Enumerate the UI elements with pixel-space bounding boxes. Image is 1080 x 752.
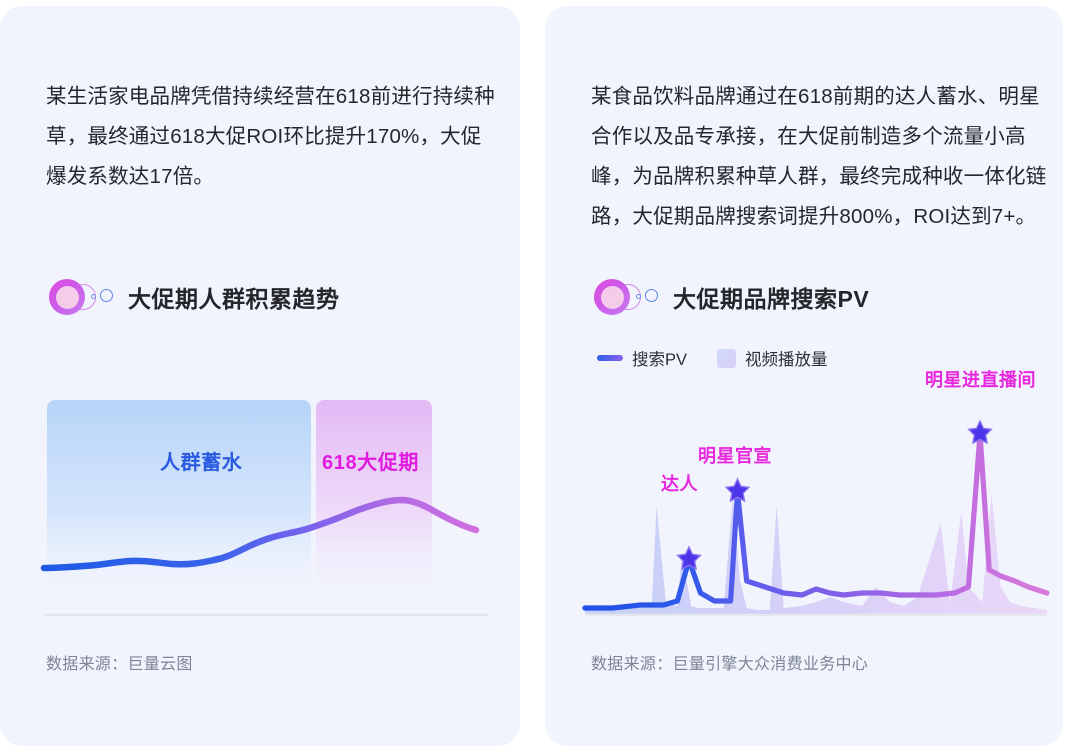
- case-paragraph-right: 某食品饮料品牌通过在618前期的达人蓄水、明星合作以及品专承接，在大促前制造多个…: [591, 77, 1053, 237]
- star-marker-star-announce: [726, 479, 749, 501]
- section-heading-right: 大促期品牌搜索PV: [593, 276, 869, 318]
- chart-crowd-accumulation-trend: 人群蓄水 618大促期: [44, 394, 488, 620]
- band-label-pre-promo: 人群蓄水: [160, 446, 242, 475]
- legend-swatch-icon: [717, 349, 736, 368]
- crowd-trend-svg: [44, 394, 488, 620]
- source-note-right: 数据来源：巨量引擎大众消费业务中心: [591, 650, 868, 674]
- section-title-right: 大促期品牌搜索PV: [673, 280, 869, 314]
- legend-line-icon: [597, 355, 623, 361]
- case-card-right: 某食品饮料品牌通过在618前期的达人蓄水、明星合作以及品专承接，在大促前制造多个…: [545, 6, 1063, 746]
- star-marker-star-livestream: [969, 421, 992, 443]
- brand-search-svg: [585, 366, 1047, 622]
- source-note-left: 数据来源：巨量云图: [46, 650, 193, 674]
- gradient-bubble-icon: [48, 276, 110, 318]
- annotation-star-announce: 明星官宣: [698, 442, 772, 468]
- band-pre-promo: [47, 400, 311, 606]
- case-paragraph-left: 某生活家电品牌凭借持续经营在618前进行持续种草，最终通过618大促ROI环比提…: [46, 77, 498, 197]
- section-title-left: 大促期人群积累趋势: [128, 280, 340, 314]
- annotation-daren: 达人: [661, 470, 698, 496]
- case-card-left: 某生活家电品牌凭借持续经营在618前进行持续种草，最终通过618大促ROI环比提…: [0, 6, 520, 746]
- chart-brand-search-pv: 达人 明星官宣 明星进直播间: [585, 366, 1047, 622]
- annotation-star-livestream: 明星进直播间: [925, 366, 1036, 392]
- page-root: 某生活家电品牌凭借持续经营在618前进行持续种草，最终通过618大促ROI环比提…: [0, 0, 1080, 752]
- video-plays-area: [585, 494, 1047, 614]
- band-label-promo: 618大促期: [322, 446, 419, 475]
- section-heading-left: 大促期人群积累趋势: [48, 276, 340, 318]
- gradient-bubble-icon: [593, 276, 655, 318]
